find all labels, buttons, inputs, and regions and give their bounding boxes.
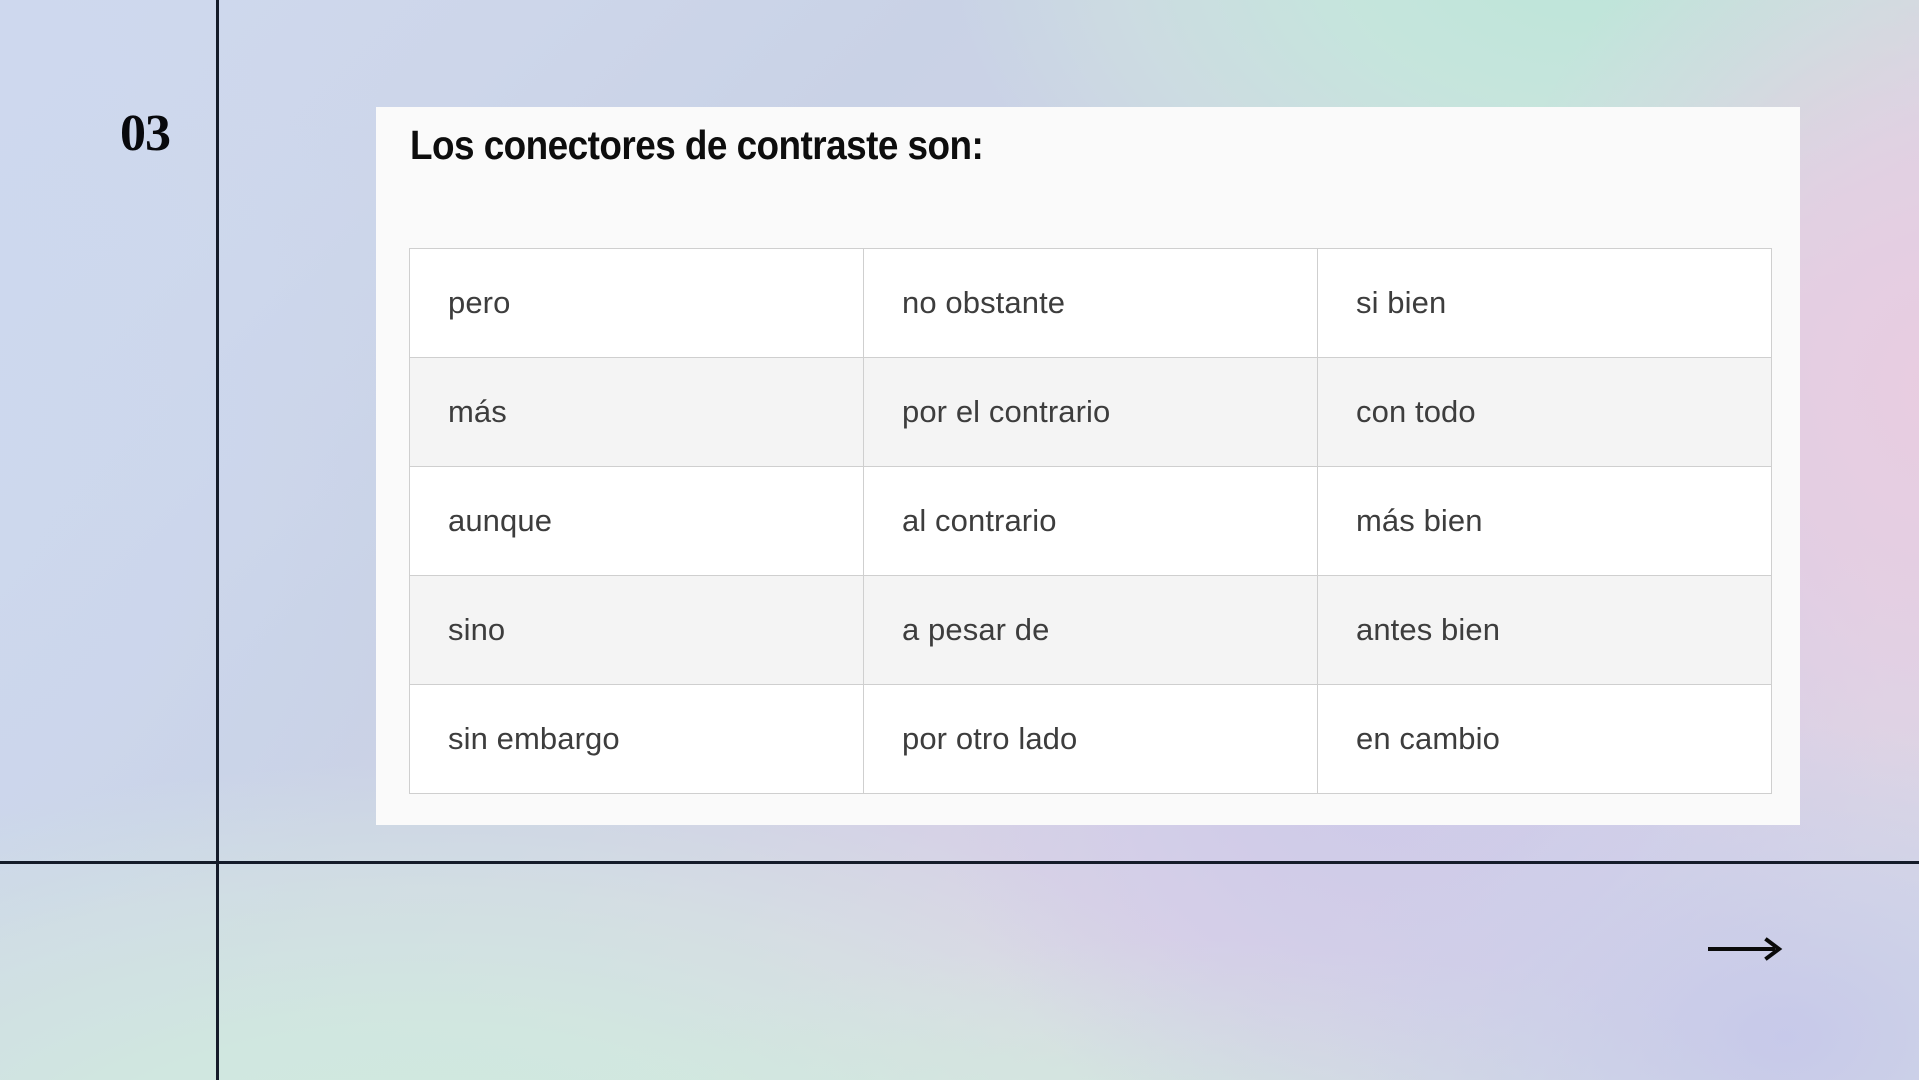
table-cell: por otro lado [864, 685, 1318, 794]
content-card: Los conectores de contraste son: pero no… [376, 107, 1800, 825]
slide-number: 03 [90, 108, 200, 160]
connectors-table-body: pero no obstante si bien más por el cont… [410, 249, 1772, 794]
table-cell: no obstante [864, 249, 1318, 358]
table-row: pero no obstante si bien [410, 249, 1772, 358]
table-cell: sin embargo [410, 685, 864, 794]
vertical-divider-rule [216, 0, 219, 1080]
table-cell: al contrario [864, 467, 1318, 576]
table-row: sino a pesar de antes bien [410, 576, 1772, 685]
next-slide-button[interactable] [1707, 936, 1789, 962]
table-cell: más bien [1318, 467, 1772, 576]
table-row: sin embargo por otro lado en cambio [410, 685, 1772, 794]
page-title: Los conectores de contraste son: [410, 121, 983, 170]
table-row: más por el contrario con todo [410, 358, 1772, 467]
table-cell: sino [410, 576, 864, 685]
horizontal-divider-rule [0, 861, 1919, 864]
table-cell: aunque [410, 467, 864, 576]
table-cell: si bien [1318, 249, 1772, 358]
table-cell: a pesar de [864, 576, 1318, 685]
table-cell: antes bien [1318, 576, 1772, 685]
table-cell: pero [410, 249, 864, 358]
table-cell: por el contrario [864, 358, 1318, 467]
table-row: aunque al contrario más bien [410, 467, 1772, 576]
slide-canvas: 03 Los conectores de contraste son: pero… [0, 0, 1919, 1080]
connectors-table: pero no obstante si bien más por el cont… [409, 248, 1772, 794]
table-cell: más [410, 358, 864, 467]
table-cell: con todo [1318, 358, 1772, 467]
arrow-right-icon [1707, 936, 1789, 962]
table-cell: en cambio [1318, 685, 1772, 794]
